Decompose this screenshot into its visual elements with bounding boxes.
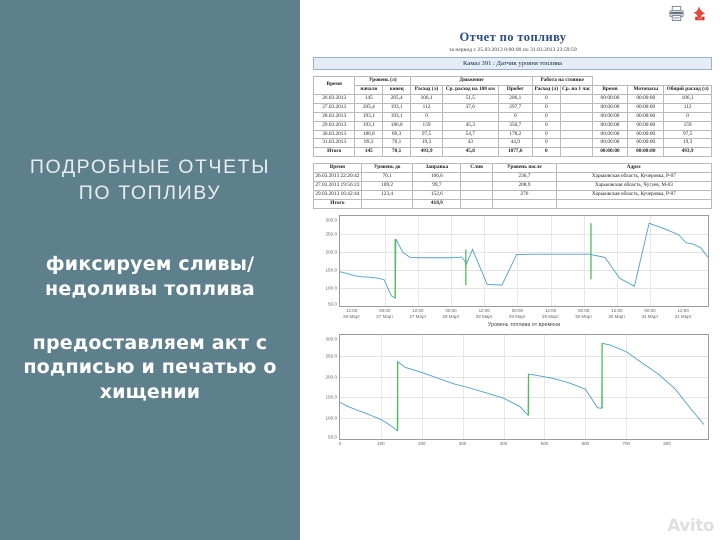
table-cell: 112 — [411, 103, 443, 112]
chart-ytick: 100.0 — [326, 416, 338, 421]
col-event-time: Время — [314, 164, 362, 173]
table-cell — [560, 121, 592, 130]
table-row: 28.03.2013193,1193,100000:00:0000:00:000 — [314, 112, 712, 121]
table-cell: 178,2 — [498, 130, 532, 139]
report-pane: PDF Отчет по топливу за период с 25.03.2… — [300, 0, 720, 540]
col-idle-consumption: Расход (л) — [532, 85, 560, 94]
table-cell: 00:00:00 — [592, 148, 628, 157]
table-row: 29.03.2013193,1186,815945,3350,7000:00:0… — [314, 121, 712, 130]
table-cell: 00:00:00 — [628, 130, 664, 139]
table-cell: 19,3 — [664, 139, 712, 148]
table-cell: 166,6 — [413, 173, 461, 182]
chart-xtick: 600 — [582, 439, 590, 447]
table-cell: 31.03.2013 — [314, 139, 355, 148]
table-cell: 89,3 — [355, 139, 383, 148]
table-cell: 0 — [532, 139, 560, 148]
printer-icon[interactable] — [668, 5, 685, 27]
table-cell: 97,5 — [664, 130, 712, 139]
table-cell — [560, 130, 592, 139]
chart-xtick: 12:0030 Март — [608, 306, 625, 319]
col-avg-per-100km: Ср. расход на 100 км — [442, 85, 498, 94]
report-toolbar: PDF — [310, 4, 716, 28]
table-cell: 29.03.2013 16:42:44 — [314, 191, 362, 200]
table-cell: 45,3 — [442, 121, 498, 130]
table-cell: 123,4 — [361, 191, 413, 200]
table-row: 26.03.2013 22:20:4270,1166,6236,7Харьков… — [314, 173, 712, 182]
group-spacer-1 — [592, 77, 628, 86]
col-level-before: Уровень до — [361, 164, 413, 173]
report-object-bar: Камаз 391 : Датчик уровня топлива — [313, 57, 712, 70]
promo-panel: ПОДРОБНЫЕ ОТЧЕТЫ ПО ТОПЛИВУ фиксируем сл… — [0, 0, 300, 540]
table-cell: 276 — [493, 191, 557, 200]
table-cell: 43 — [442, 139, 498, 148]
table-cell: 37,6 — [442, 103, 498, 112]
group-spacer-3 — [664, 77, 712, 86]
chart-ytick: 50.0 — [328, 301, 337, 306]
table-cell: 51,5 — [442, 94, 498, 103]
table-cell: 0 — [532, 148, 560, 157]
table-cell: Харьковская область, Кучеровка, Р-07 — [556, 173, 711, 182]
chart-fuel-vs-mileage: 50.0100.0150.0200.0250.0300.001002003004… — [313, 334, 709, 440]
chart-xtick: 00:0028 Март — [443, 306, 460, 319]
promo-claim-act: предоставляем акт с подписью и печатью о… — [14, 331, 286, 404]
chart-ytick: 100.0 — [326, 285, 338, 290]
table-cell — [560, 148, 592, 157]
chart-xtick: 12:0031 Март — [675, 306, 692, 319]
table-cell: 28.03.2013 — [314, 112, 355, 121]
group-movement: Движение — [411, 77, 533, 86]
table-cell: 206,1 — [498, 94, 532, 103]
table-cell: 1077,6 — [498, 148, 532, 157]
col-drain: Слив — [461, 164, 493, 173]
table-cell: 159 — [411, 121, 443, 130]
fuel-summary-body: 26.03.2013145205,4106,151,5206,1000:00:0… — [314, 94, 712, 156]
table-cell: 193,1 — [355, 121, 383, 130]
table-cell: 193,1 — [355, 112, 383, 121]
table-row: 31.03.201389,370,119,34344,9000:00:0000:… — [314, 139, 712, 148]
table-cell: 109,2 — [361, 182, 413, 191]
chart-ytick: 200.0 — [326, 249, 338, 254]
table-row: 30.03.2013186,889,397,554,7178,2000:00:0… — [314, 130, 712, 139]
chart-xtick: 500 — [541, 439, 549, 447]
table-cell: 00:00:00 — [592, 121, 628, 130]
promo-body: фиксируем сливы/ недоливы топлива предос… — [14, 252, 286, 404]
col-mileage: Пробег — [498, 85, 532, 94]
col-avg-per-hour: Ср. на 1 час — [560, 85, 592, 94]
chart-fuel-vs-time: 50.0100.0150.0200.0250.0300.012:0026 Мар… — [313, 215, 709, 328]
group-level: Уровень (л) — [355, 77, 411, 86]
chart-xtick: 0 — [339, 439, 342, 447]
chart-xtick: 700 — [622, 439, 630, 447]
table-cell: 54,7 — [442, 130, 498, 139]
chart-xtick: 12:0026 Март — [343, 306, 360, 319]
table-cell: Харьковская область, Чугуев, М-03 — [556, 182, 711, 191]
table-cell: 205,4 — [383, 94, 411, 103]
promo-claim-drain: фиксируем сливы/ недоливы топлива — [14, 252, 286, 301]
table-cell: 0 — [664, 112, 712, 121]
table-cell: 193,1 — [383, 112, 411, 121]
col-move-consumption: Расход (л) — [411, 85, 443, 94]
table-cell: 106,1 — [664, 94, 712, 103]
table-cell: 00:00:00 — [592, 130, 628, 139]
col-level-end: конец — [383, 85, 411, 94]
table-total-row: Итого418,9 — [314, 199, 712, 208]
table-cell: 159 — [664, 121, 712, 130]
table-total-row: Итого14570,1493,945,81077,6000:00:0000:0… — [314, 148, 712, 157]
table-row: 27.03.2013205,4193,111237,6297,7000:00:0… — [314, 103, 712, 112]
table-cell: 145 — [355, 148, 383, 157]
chart-xtick: 300 — [459, 439, 467, 447]
table-cell: 193,1 — [383, 103, 411, 112]
table-cell: 00:00:00 — [592, 94, 628, 103]
col-address: Адрес — [556, 164, 711, 173]
group-spacer-2 — [628, 77, 664, 86]
table-cell: 27.03.2013 — [314, 103, 355, 112]
chart-xtick: 800 — [663, 439, 671, 447]
table-row: 29.03.2013 16:42:44123,4152,6276Харьковс… — [314, 191, 712, 200]
table-cell: 0 — [411, 112, 443, 121]
chart-ytick: 250.0 — [326, 231, 338, 236]
table-cell: 297,7 — [498, 103, 532, 112]
table-cell — [493, 199, 557, 208]
col-level-start: начало — [355, 85, 383, 94]
chart-ytick: 50.0 — [328, 434, 337, 439]
promo-headline: ПОДРОБНЫЕ ОТЧЕТЫ ПО ТОПЛИВУ — [14, 155, 286, 206]
table-cell: 19,3 — [411, 139, 443, 148]
chart-ytick: 250.0 — [326, 353, 338, 358]
chart-xtick: 200 — [418, 439, 426, 447]
table-cell: 00:00:00 — [628, 112, 664, 121]
page-title: Отчет по топливу — [310, 30, 716, 45]
chart1-xlabel: Уровень топлива от времени — [339, 322, 709, 328]
svg-text:PDF: PDF — [697, 17, 703, 21]
table-cell: 99,7 — [413, 182, 461, 191]
fuel-events-body: 26.03.2013 22:20:4270,1166,6236,7Харьков… — [314, 173, 712, 209]
chart-ytick: 300.0 — [326, 217, 338, 222]
table-cell: 106,1 — [411, 94, 443, 103]
chart-xtick: 12:0028 Март — [476, 306, 493, 319]
table-cell: 00:00:00 — [628, 103, 664, 112]
table-cell — [560, 103, 592, 112]
table-cell: 26.03.2013 22:20:42 — [314, 173, 362, 182]
col-refuel: Заправка — [413, 164, 461, 173]
table-cell: Итого — [314, 148, 355, 157]
table-cell: 97,5 — [411, 130, 443, 139]
chart-xtick: 00:0027 Март — [376, 306, 393, 319]
col-engine-hours: Моточасы — [628, 85, 664, 94]
table-cell: 30.03.2013 — [314, 130, 355, 139]
table-cell: 236,7 — [493, 173, 557, 182]
fuel-summary-table: Время Уровень (л) Движение Работа на сто… — [313, 76, 712, 157]
fuel-events-table: Время Уровень до Заправка Слив Уровень п… — [313, 163, 712, 209]
table-cell: 152,6 — [413, 191, 461, 200]
chart-xtick: 00:0029 Март — [509, 306, 526, 319]
table-cell: 186,8 — [383, 121, 411, 130]
table-row: 26.03.2013145205,4106,151,5206,1000:00:0… — [314, 94, 712, 103]
avito-watermark: Avito — [667, 516, 714, 536]
table-cell — [361, 199, 413, 208]
table-cell: 00:00:00 — [628, 148, 664, 157]
chart-ytick: 300.0 — [326, 336, 338, 341]
table-cell: 00:00:00 — [592, 103, 628, 112]
col-total-consumption: Общий расход (л) — [664, 85, 712, 94]
table-cell: 00:00:00 — [628, 139, 664, 148]
chart2-plot-area: 50.0100.0150.0200.0250.0300.001002003004… — [339, 334, 709, 440]
chart-series — [340, 335, 708, 439]
table-cell — [461, 182, 493, 191]
table-cell: 145 — [355, 94, 383, 103]
chart-xtick: 00:0030 Март — [575, 306, 592, 319]
chart-xtick: 12:0029 Март — [542, 306, 559, 319]
table-cell: 70,1 — [383, 148, 411, 157]
events-header-row: Время Уровень до Заправка Слив Уровень п… — [314, 164, 712, 173]
table-cell — [442, 112, 498, 121]
pdf-export-icon[interactable]: PDF — [691, 5, 708, 27]
table-cell: 493,9 — [411, 148, 443, 157]
chart1-plot-area: 50.0100.0150.0200.0250.0300.012:0026 Мар… — [339, 215, 709, 307]
table-cell: 350,7 — [498, 121, 532, 130]
table-cell: 0 — [532, 121, 560, 130]
table-cell: 0 — [532, 94, 560, 103]
report-period-subtitle: за период с 25.03.2013 0:00:00 по 31.03.… — [310, 47, 716, 53]
chart-ytick: 200.0 — [326, 374, 338, 379]
table-cell: 70,1 — [383, 139, 411, 148]
table-cell: 45,8 — [442, 148, 498, 157]
table-cell: 70,1 — [361, 173, 413, 182]
chart-xtick: 12:0027 Март — [409, 306, 426, 319]
table-header-row: начало конец Расход (л) Ср. расход на 10… — [314, 85, 712, 94]
table-group-header-row: Время Уровень (л) Движение Работа на сто… — [314, 77, 712, 86]
table-cell: 26.03.2013 — [314, 94, 355, 103]
table-cell: 0 — [532, 112, 560, 121]
table-cell — [461, 199, 493, 208]
table-cell: 89,3 — [383, 130, 411, 139]
table-cell: 29.03.2013 — [314, 121, 355, 130]
chart-xtick: 00:0031 Март — [641, 306, 658, 319]
table-cell — [556, 199, 711, 208]
table-cell: 0 — [498, 112, 532, 121]
table-cell: 208,9 — [493, 182, 557, 191]
table-row: 27.03.2013 19:56:23109,299,7208,9Харьков… — [314, 182, 712, 191]
table-cell — [560, 94, 592, 103]
table-cell: 00:00:00 — [592, 112, 628, 121]
table-cell: 418,9 — [413, 199, 461, 208]
table-cell: 0 — [532, 130, 560, 139]
table-cell: 00:00:00 — [628, 121, 664, 130]
chart-ytick: 150.0 — [326, 395, 338, 400]
table-cell: Итого — [314, 199, 362, 208]
table-cell — [560, 112, 592, 121]
table-cell: 493,9 — [664, 148, 712, 157]
table-cell — [560, 139, 592, 148]
chart-xtick: 100 — [377, 439, 385, 447]
table-cell: 0 — [532, 103, 560, 112]
table-cell: 27.03.2013 19:56:23 — [314, 182, 362, 191]
table-cell — [461, 191, 493, 200]
table-cell: 205,4 — [355, 103, 383, 112]
table-cell: 00:00:00 — [628, 94, 664, 103]
table-cell: Харьковская область, Кучеровка, Р-07 — [556, 191, 711, 200]
col-idle-time: Время — [592, 85, 628, 94]
col-time: Время — [314, 77, 355, 95]
table-cell: 44,9 — [498, 139, 532, 148]
table-cell: 00:00:00 — [592, 139, 628, 148]
chart-ytick: 150.0 — [326, 267, 338, 272]
table-cell — [461, 173, 493, 182]
table-cell: 112 — [664, 103, 712, 112]
chart-series — [340, 216, 708, 306]
group-idle: Работа на стоянке — [532, 77, 592, 86]
chart-xtick: 400 — [500, 439, 508, 447]
table-cell: 186,8 — [355, 130, 383, 139]
col-level-after: Уровень после — [493, 164, 557, 173]
